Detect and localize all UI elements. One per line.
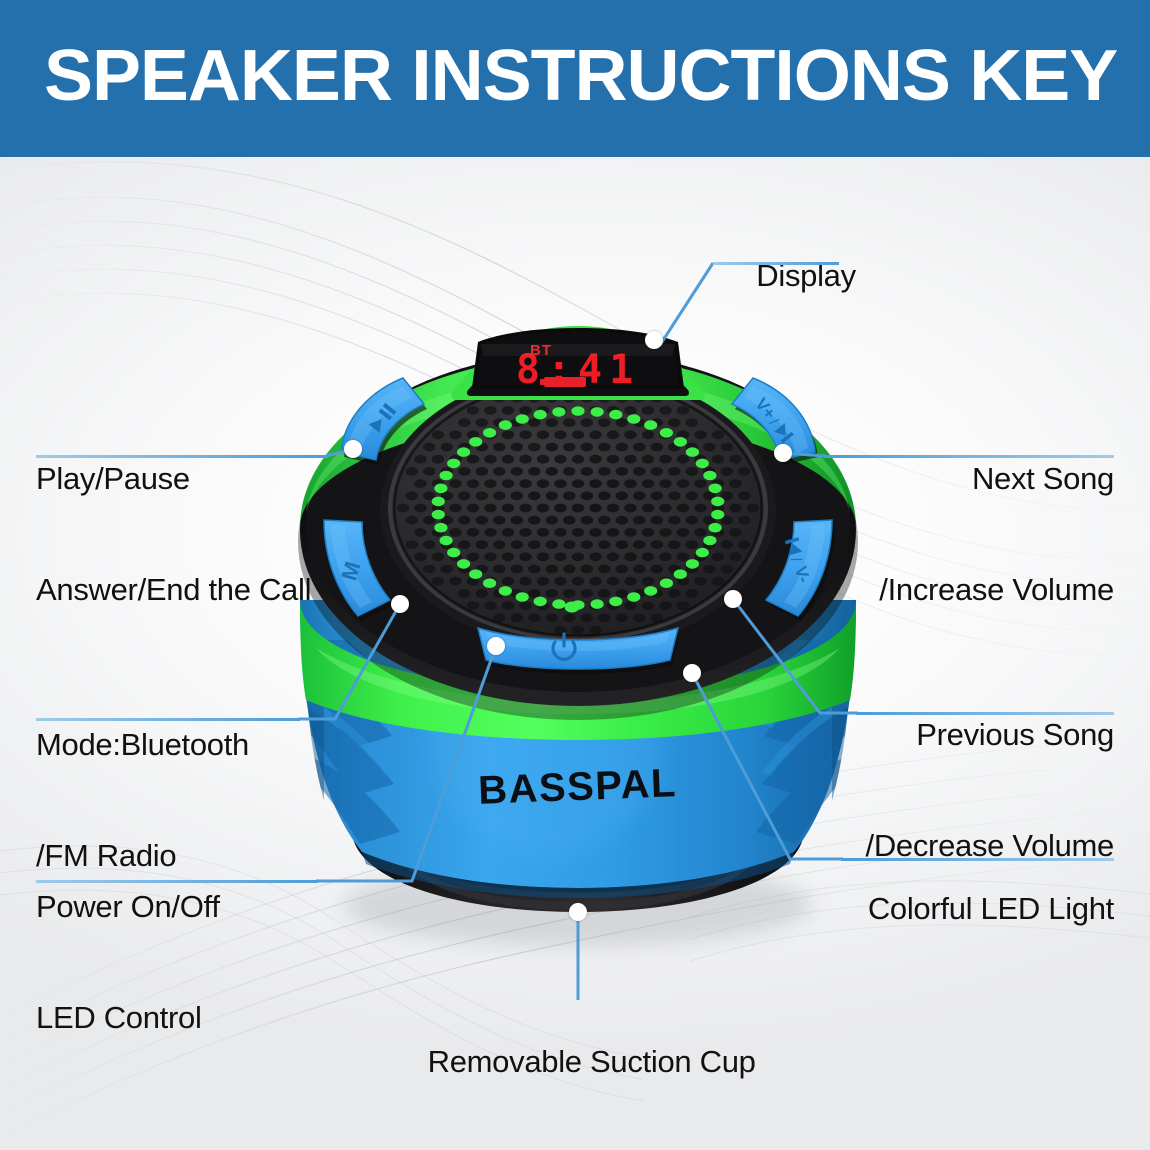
callout-text-mode-line1: Mode:Bluetooth — [36, 726, 249, 763]
callout-text-next-song-line1: Next Song — [879, 460, 1114, 497]
callout-text-power-line1: Power On/Off — [36, 888, 220, 925]
grille-status-led — [565, 602, 580, 613]
callout-rule-next-song — [824, 455, 1114, 458]
callout-dot-colorful-led — [683, 664, 701, 682]
callout-dot-mode — [391, 595, 409, 613]
callout-text-suction-cup-line1: Removable Suction Cup — [428, 1044, 756, 1079]
callout-label-suction-cup: Removable Suction Cup — [0, 1006, 1150, 1117]
infographic-page: SPEAKER INSTRUCTIONS KEY — [0, 0, 1150, 1150]
callout-rule-colorful-led — [841, 858, 1114, 861]
callout-text-play-pause-line2: Answer/End the Call — [36, 571, 311, 608]
callout-label-colorful-led: Colorful LED Light — [868, 816, 1114, 1001]
callout-rule-play-pause — [36, 455, 328, 458]
callout-rule-power — [36, 880, 318, 883]
callout-text-colorful-led-line1: Colorful LED Light — [868, 890, 1114, 927]
callout-text-next-song-line2: /Increase Volume — [879, 571, 1114, 608]
callout-text-play-pause-line1: Play/Pause — [36, 460, 311, 497]
callout-dot-power — [487, 637, 505, 655]
battery-low-icon — [540, 377, 586, 387]
callout-dot-previous-song — [724, 590, 742, 608]
brand-logo: BASSPAL — [477, 761, 677, 813]
callout-dot-suction-cup — [569, 903, 587, 921]
callout-label-play-pause: Play/Pause Answer/End the Call — [36, 386, 311, 682]
callout-text-previous-song-line1: Previous Song — [866, 716, 1115, 753]
callout-rule-display — [713, 262, 839, 265]
connector-display — [660, 263, 713, 345]
callout-dot-display — [645, 331, 663, 349]
speaker-grille — [380, 370, 776, 650]
callout-dot-play-pause — [344, 440, 362, 458]
callout-rule-previous-song — [856, 712, 1114, 715]
callout-rule-mode — [36, 718, 300, 721]
callout-label-next-song: Next Song /Increase Volume — [879, 386, 1114, 682]
callout-label-display: Display — [723, 220, 903, 331]
callout-dot-next-song — [774, 444, 792, 462]
